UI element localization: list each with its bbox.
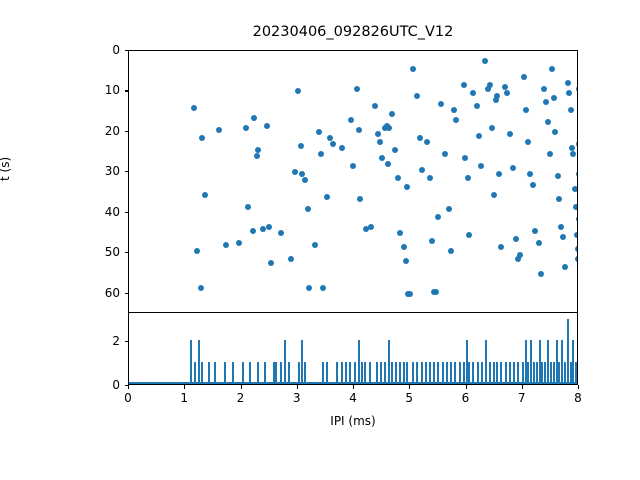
histogram-bar — [541, 362, 543, 384]
histogram-bar — [304, 362, 306, 384]
scatter-point — [576, 141, 578, 147]
scatter-point — [427, 175, 433, 181]
y-tick-top — [125, 50, 129, 51]
scatter-point — [298, 143, 304, 149]
scatter-point — [562, 264, 568, 270]
histogram-bar — [544, 362, 546, 384]
scatter-point — [538, 271, 544, 277]
histogram-bar — [257, 362, 259, 384]
x-tick — [578, 385, 579, 389]
histogram-bar — [403, 362, 405, 384]
histogram-bar — [412, 362, 414, 384]
scatter-point — [407, 291, 413, 297]
scatter-point — [202, 192, 208, 198]
histogram-bar — [525, 340, 527, 384]
histogram-bar — [442, 362, 444, 384]
scatter-point — [339, 145, 345, 151]
histogram-bar — [567, 319, 569, 384]
scatter-point — [570, 151, 576, 157]
scatter-point — [302, 177, 308, 183]
scatter-point — [498, 244, 504, 250]
scatter-point — [305, 206, 311, 212]
y-tick-top — [125, 131, 129, 132]
scatter-point — [568, 107, 574, 113]
y-tick-label-top: 60 — [80, 286, 120, 300]
histogram-bar — [459, 362, 461, 384]
scatter-point — [397, 230, 403, 236]
scatter-point — [198, 285, 204, 291]
scatter-point — [375, 131, 381, 137]
scatter-point — [448, 248, 454, 254]
scatter-point — [250, 228, 256, 234]
scatter-point — [350, 163, 356, 169]
scatter-point — [292, 169, 298, 175]
histogram-bar — [477, 362, 479, 384]
histogram-bar — [201, 362, 203, 384]
scatter-point — [543, 99, 549, 105]
scatter-point — [216, 127, 222, 133]
scatter-point — [379, 155, 385, 161]
scatter-point — [576, 216, 578, 222]
scatter-point — [530, 182, 536, 188]
scatter-point — [312, 242, 318, 248]
y-tick-label-top: 10 — [80, 83, 120, 97]
histogram-bar — [280, 362, 282, 384]
y-tick-label-top: 30 — [80, 164, 120, 178]
scatter-point — [451, 107, 457, 113]
histogram-bar — [533, 362, 535, 384]
scatter-point — [392, 147, 398, 153]
histogram-bar — [505, 362, 507, 384]
histogram-bar — [530, 340, 532, 384]
scatter-point — [429, 238, 435, 244]
scatter-point — [318, 151, 324, 157]
y-tick-top — [125, 293, 129, 294]
histogram-bar — [481, 362, 483, 384]
scatter-point — [507, 131, 513, 137]
scatter-point — [254, 153, 260, 159]
scatter-point — [442, 151, 448, 157]
scatter-point — [482, 58, 488, 64]
histogram-bar — [527, 362, 529, 384]
x-tick-label: 1 — [169, 391, 199, 405]
histogram-bar — [550, 362, 552, 384]
scatter-point — [525, 139, 531, 145]
histogram-bar — [577, 340, 578, 384]
histogram-bar — [522, 362, 524, 384]
histogram-bar — [553, 362, 555, 384]
scatter-point — [478, 163, 484, 169]
scatter-point — [356, 127, 362, 133]
x-tick — [297, 385, 298, 389]
y-tick-top — [125, 90, 129, 91]
scatter-point — [414, 93, 420, 99]
histogram-bar — [485, 340, 487, 384]
histogram-bar — [547, 340, 549, 384]
scatter-point — [496, 171, 502, 177]
scatter-point — [404, 184, 410, 190]
histogram-bar — [275, 362, 277, 384]
histogram-bar — [349, 362, 351, 384]
histogram-bar — [399, 362, 401, 384]
scatter-point — [324, 194, 330, 200]
scatter-point — [401, 244, 407, 250]
scatter-point — [462, 155, 468, 161]
histogram-bar — [472, 362, 474, 384]
histogram-bar — [539, 340, 541, 384]
histogram-bar — [421, 362, 423, 384]
histogram-bar — [429, 362, 431, 384]
histogram-bar — [406, 362, 408, 384]
scatter-point — [306, 285, 312, 291]
histogram-bar — [493, 362, 495, 384]
scatter-point — [575, 246, 578, 252]
histogram-bar — [384, 362, 386, 384]
scatter-point — [470, 90, 476, 96]
histogram-bar — [564, 362, 566, 384]
x-tick — [241, 385, 242, 389]
scatter-point — [348, 117, 354, 123]
scatter-point — [536, 240, 542, 246]
x-tick-label: 6 — [451, 391, 481, 405]
scatter-point — [251, 115, 257, 121]
y-tick-label-top: 40 — [80, 205, 120, 219]
y-tick-label-bottom: 0 — [80, 378, 120, 392]
histogram-bar — [364, 362, 366, 384]
histogram-bar — [361, 362, 363, 384]
scatter-point — [417, 135, 423, 141]
scatter-point — [556, 196, 562, 202]
scatter-point — [266, 224, 272, 230]
scatter-point — [424, 139, 430, 145]
y-tick-label-top: 20 — [80, 124, 120, 138]
scatter-point — [260, 226, 266, 232]
y-tick-top — [125, 252, 129, 253]
scatter-point — [532, 228, 538, 234]
histogram-bar — [376, 362, 378, 384]
scatter-point — [555, 173, 561, 179]
histogram-bar — [433, 362, 435, 384]
histogram-bar — [380, 362, 382, 384]
scatter-point — [194, 248, 200, 254]
histogram-bar — [336, 362, 338, 384]
histogram-bar — [536, 362, 538, 384]
histogram-panel — [128, 313, 578, 385]
histogram-bar — [489, 362, 491, 384]
scatter-point — [433, 289, 439, 295]
histogram-bar — [249, 362, 251, 384]
histogram-bar — [194, 362, 196, 384]
scatter-point — [357, 196, 363, 202]
scatter-point — [565, 80, 571, 86]
histogram-bar — [446, 362, 448, 384]
histogram-bar — [437, 362, 439, 384]
scatter-point — [191, 105, 197, 111]
histogram-bar — [190, 340, 192, 384]
histogram-bar — [264, 362, 266, 384]
scatter-point — [551, 95, 557, 101]
histogram-bar — [468, 362, 470, 384]
scatter-point — [354, 86, 360, 92]
scatter-point — [487, 82, 493, 88]
scatter-point — [517, 252, 523, 258]
histogram-bar — [288, 362, 290, 384]
histogram-bar — [463, 362, 465, 384]
histogram-bar — [570, 362, 572, 384]
histogram-bar — [214, 362, 216, 384]
y-axis-label-top: t (s) — [0, 157, 12, 181]
histogram-bar — [517, 362, 519, 384]
histogram-bar — [556, 340, 558, 384]
scatter-point — [295, 88, 301, 94]
scatter-point — [547, 151, 553, 157]
scatter-point — [438, 101, 444, 107]
scatter-point — [576, 86, 578, 92]
scatter-point — [527, 171, 533, 177]
scatter-point — [320, 285, 326, 291]
scatter-point — [573, 204, 578, 210]
x-tick-label: 0 — [113, 391, 143, 405]
scatter-point — [504, 90, 510, 96]
scatter-point — [453, 117, 459, 123]
scatter-point — [572, 186, 578, 192]
scatter-point — [395, 175, 401, 181]
scatter-point — [474, 103, 480, 109]
histogram-bar — [558, 362, 560, 384]
histogram-bar — [450, 362, 452, 384]
page-title: 20230406_092826UTC_V12 — [128, 24, 578, 40]
scatter-point — [223, 242, 229, 248]
scatter-point — [446, 206, 452, 212]
scatter-point — [566, 90, 572, 96]
y-tick-label-top: 50 — [80, 245, 120, 259]
histogram-bar — [388, 340, 390, 384]
y-tick-bottom — [125, 341, 129, 342]
x-tick — [522, 385, 523, 389]
histogram-bar — [322, 362, 324, 384]
scatter-point — [372, 103, 378, 109]
scatter-point — [545, 119, 551, 125]
scatter-point — [385, 161, 391, 167]
scatter-point — [576, 171, 578, 177]
x-tick-label: 5 — [394, 391, 424, 405]
x-tick — [353, 385, 354, 389]
scatter-point — [513, 236, 519, 242]
y-tick-label-bottom: 2 — [80, 334, 120, 348]
scatter-point — [476, 133, 482, 139]
histogram-bar — [454, 362, 456, 384]
histogram-bar — [416, 362, 418, 384]
scatter-point — [264, 123, 270, 129]
histogram-bar — [242, 362, 244, 384]
x-tick-label: 7 — [507, 391, 537, 405]
histogram-bar — [298, 362, 300, 384]
scatter-point — [410, 66, 416, 72]
scatter-point — [465, 175, 471, 181]
histogram-bar — [500, 362, 502, 384]
y-tick-top — [125, 171, 129, 172]
scatter-point — [278, 230, 284, 236]
scatter-point — [560, 234, 566, 240]
histogram-bar — [496, 362, 498, 384]
scatter-point — [288, 256, 294, 262]
histogram-baseline — [129, 382, 578, 384]
x-tick — [409, 385, 410, 389]
scatter-point — [245, 204, 251, 210]
scatter-point — [377, 139, 383, 145]
scatter-point — [236, 240, 242, 246]
histogram-bar — [284, 340, 286, 384]
scatter-point — [489, 125, 495, 131]
histogram-bar — [561, 340, 563, 384]
y-tick-label-top: 0 — [80, 43, 120, 57]
histogram-bar — [208, 362, 210, 384]
scatter-point — [494, 93, 500, 99]
scatter-point — [268, 260, 274, 266]
x-tick — [466, 385, 467, 389]
x-tick-label: 3 — [282, 391, 312, 405]
histogram-bar — [224, 362, 226, 384]
histogram-bar — [354, 362, 356, 384]
scatter-point — [316, 129, 322, 135]
histogram-bar — [572, 340, 574, 384]
scatter-point — [419, 167, 425, 173]
x-tick-label: 8 — [563, 391, 593, 405]
scatter-point — [523, 107, 529, 113]
x-tick — [184, 385, 185, 389]
scatter-point — [330, 141, 336, 147]
histogram-bar — [425, 362, 427, 384]
histogram-bar — [513, 362, 515, 384]
scatter-point — [574, 232, 578, 238]
scatter-point — [541, 86, 547, 92]
histogram-bar — [232, 362, 234, 384]
scatter-point — [389, 111, 395, 117]
scatter-point — [199, 135, 205, 141]
histogram-bar — [198, 340, 200, 384]
histogram-bar — [391, 362, 393, 384]
scatter-point — [510, 165, 516, 171]
scatter-point — [435, 214, 441, 220]
scatter-point — [243, 125, 249, 131]
histogram-bar — [369, 362, 371, 384]
scatter-point — [368, 224, 374, 230]
histogram-bar — [509, 362, 511, 384]
scatter-point — [461, 82, 467, 88]
scatter-point — [255, 147, 261, 153]
scatter-point — [466, 232, 472, 238]
scatter-point — [575, 256, 578, 262]
scatter-point — [386, 125, 392, 131]
x-tick-label: 4 — [338, 391, 368, 405]
scatter-point — [521, 74, 527, 80]
scatter-point — [403, 258, 409, 264]
x-axis-label: IPI (ms) — [128, 414, 578, 428]
histogram-bar — [326, 362, 328, 384]
x-tick — [128, 385, 129, 389]
scatter-point — [558, 224, 564, 230]
scatter-point — [552, 129, 558, 135]
matplotlib-figure: 20230406_092826UTC_V12 t (s) IPI (ms) 01… — [0, 0, 640, 480]
y-tick-top — [125, 212, 129, 213]
histogram-bar — [345, 362, 347, 384]
histogram-bar — [358, 340, 360, 384]
histogram-bar — [395, 362, 397, 384]
x-tick-label: 2 — [226, 391, 256, 405]
scatter-point — [491, 192, 497, 198]
histogram-bar — [341, 362, 343, 384]
histogram-bar — [466, 340, 468, 384]
scatter-point — [549, 66, 555, 72]
scatter-plot-panel — [128, 50, 578, 313]
